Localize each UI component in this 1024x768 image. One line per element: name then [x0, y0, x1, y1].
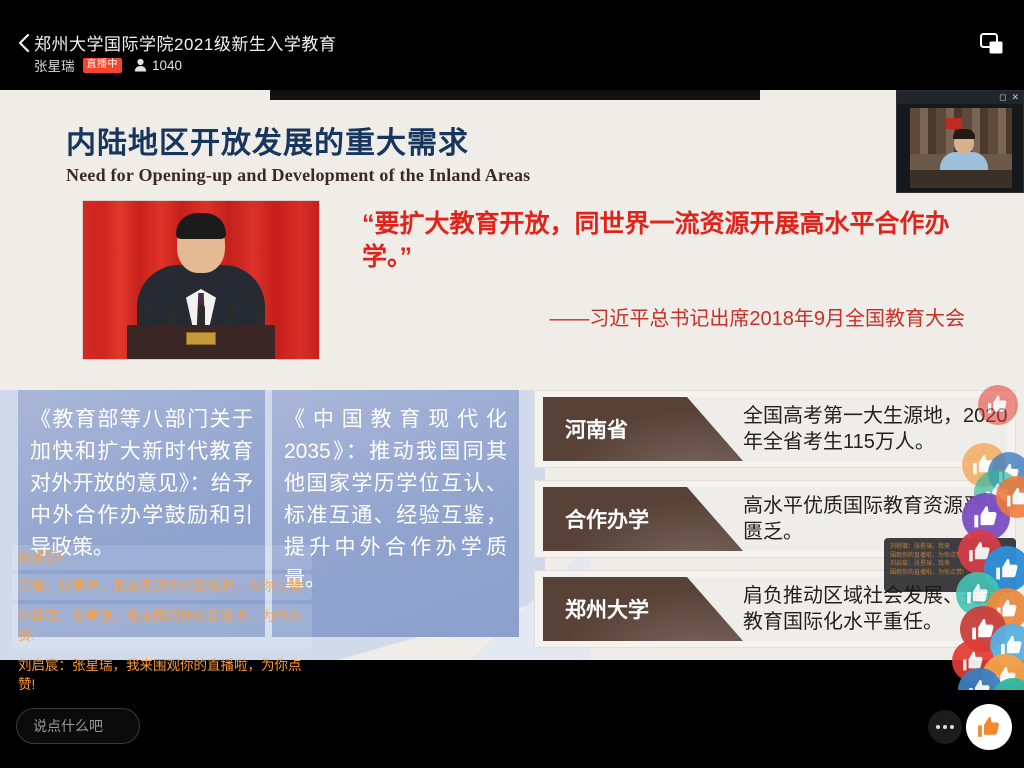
chat-message: 你点赞!	[12, 545, 312, 571]
speaker-photo	[82, 200, 320, 360]
presenter-webcam-video	[910, 108, 1012, 188]
picture-in-picture-window[interactable]: ◻ ✕	[896, 90, 1024, 193]
slide-quote: “要扩大教育开放，同世界一流资源开展高水平合作办学。”	[362, 208, 962, 274]
ribbon-inner: 河南省 全国高考第一大生源地，2020年全省考生115万人。	[543, 397, 1007, 461]
person-icon	[134, 58, 147, 72]
photo-podium	[127, 325, 275, 359]
photo-hair	[176, 213, 226, 239]
more-options-button[interactable]	[928, 710, 962, 744]
ellipsis-icon	[943, 725, 947, 729]
page-title: 郑州大学国际学院2021级新生入学教育	[34, 30, 336, 55]
live-stream-screen: 郑州大学国际学院2021级新生入学教育 张星瑞 直播中 1040 内陆地区开放发…	[0, 0, 1024, 768]
like-button[interactable]	[966, 704, 1012, 750]
pip-desk	[910, 170, 1012, 188]
thumbs-up-icon	[1005, 485, 1024, 509]
chat-input[interactable]: 说点什么吧	[16, 708, 140, 744]
slide-quote-source: ——习近平总书记出席2018年9月全国教育大会	[420, 302, 965, 331]
thumbs-up-icon	[986, 393, 1009, 416]
thumbs-up-icon	[976, 714, 1002, 740]
ribbon-tab-label: 郑州大学	[565, 594, 649, 624]
ribbon-tab-label: 合作办学	[565, 504, 649, 534]
picture-in-picture-button[interactable]	[974, 26, 1010, 62]
slide-top-strip	[270, 90, 760, 100]
pip-background-object	[946, 118, 962, 129]
close-icon[interactable]: ✕	[1011, 93, 1019, 102]
ribbon-row-henan: 河南省 全国高考第一大生源地，2020年全省考生115万人。	[534, 390, 1016, 468]
chat-message-list[interactable]: 你点赞! 马冀：张星瑞，我来围观你的直播啦，为你点赞! 刘程璐：张星瑞，我来围观…	[12, 541, 312, 698]
host-name: 张星瑞	[34, 55, 75, 75]
slide-subtitle: Need for Opening-up and Development of t…	[66, 165, 530, 186]
viewer-count-group: 1040	[134, 58, 182, 73]
viewer-count: 1040	[152, 58, 182, 73]
host-info-row: 张星瑞 直播中 1040	[34, 55, 182, 75]
ribbon-text: 全国高考第一大生源地，2020年全省考生115万人。	[743, 403, 1007, 455]
pip-person-hair	[953, 129, 975, 139]
floating-reaction	[978, 385, 1018, 425]
thumbs-up-icon	[994, 556, 1021, 583]
picture-in-picture-icon	[980, 33, 1004, 55]
thumbs-up-icon	[972, 503, 1000, 531]
status-badge: 直播中	[83, 58, 123, 73]
pip-title-bar[interactable]: ◻ ✕	[897, 91, 1023, 104]
ellipsis-icon	[950, 725, 954, 729]
ribbon-tab-label: 河南省	[565, 414, 628, 444]
top-header-bar: 郑州大学国际学院2021级新生入学教育 张星瑞 直播中 1040	[0, 0, 1024, 90]
ellipsis-icon	[936, 725, 940, 729]
maximize-icon[interactable]: ◻	[999, 93, 1006, 102]
chat-message: 刘程璐：张星瑞，我来围观你的直播啦，为你点赞!	[12, 604, 312, 649]
photo-podium-emblem	[186, 332, 216, 345]
bottom-action-bar: 说点什么吧	[0, 690, 1024, 768]
slide-title: 内陆地区开放发展的重大需求	[66, 118, 469, 162]
chat-message: 马冀：张星瑞，我来围观你的直播啦，为你点赞!	[12, 574, 312, 600]
